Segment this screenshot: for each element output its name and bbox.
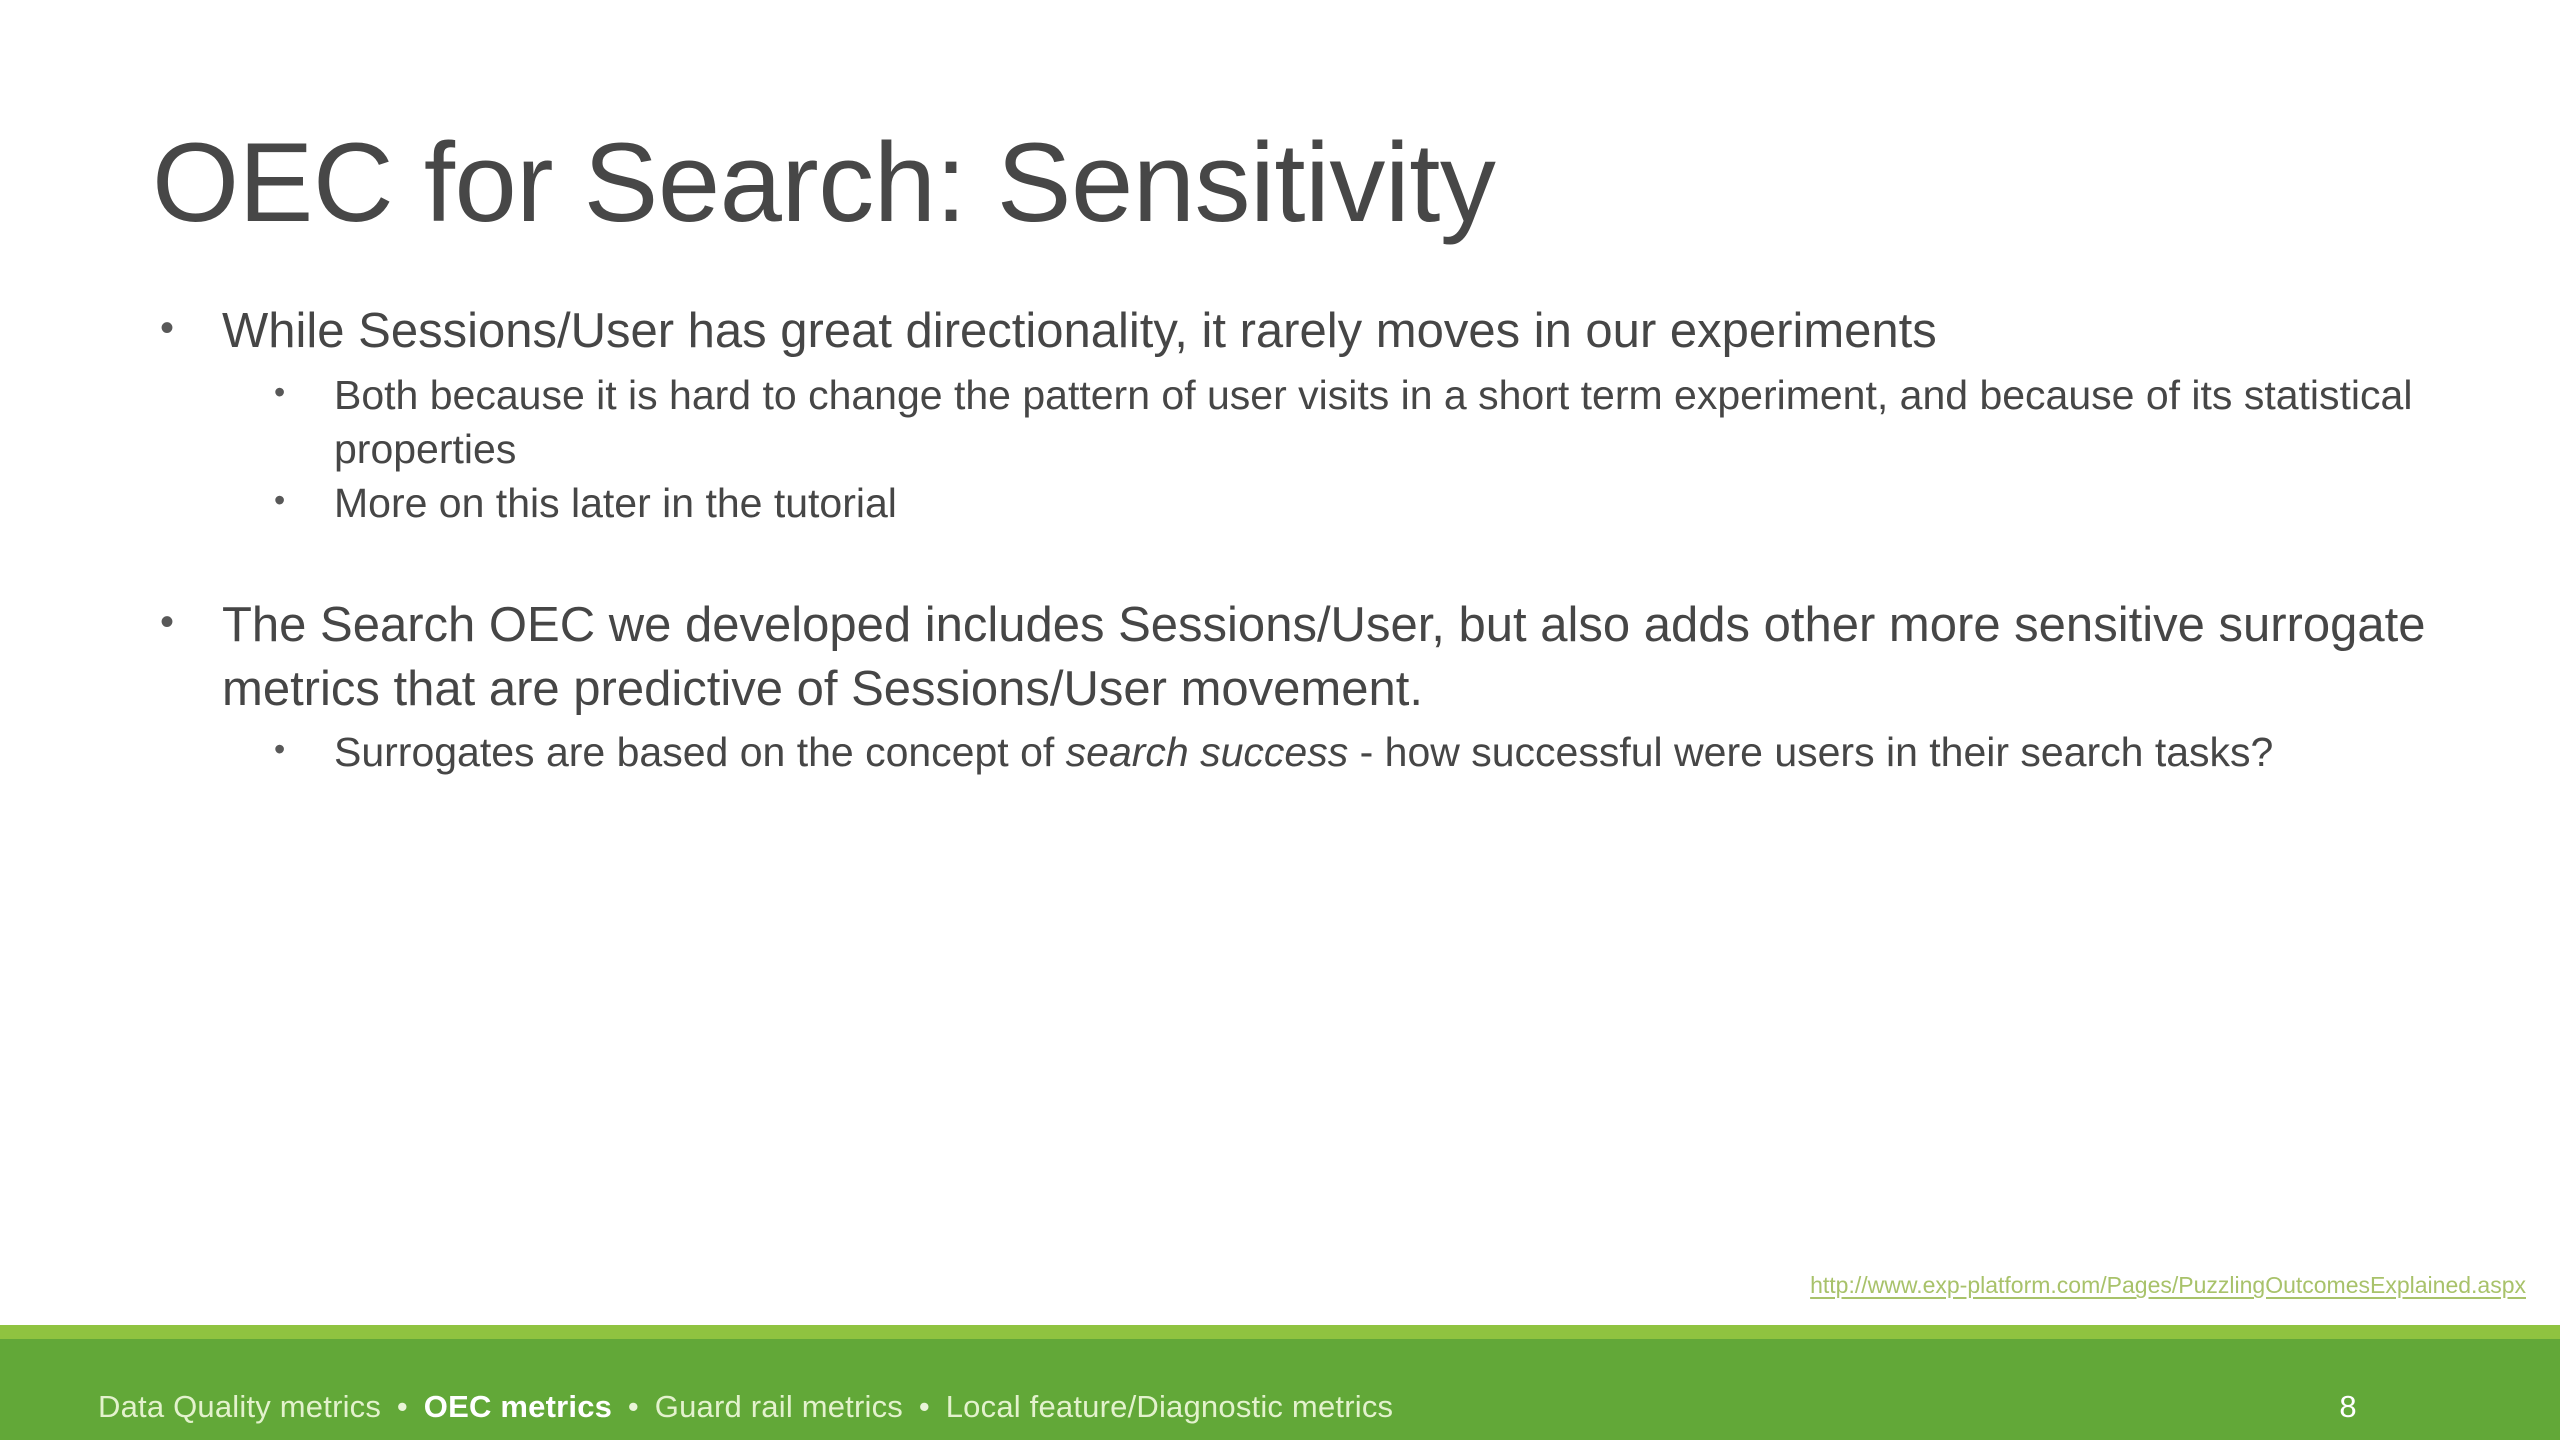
bullet-text: While Sessions/User has great directiona… <box>222 300 2450 364</box>
bullet-text: The Search OEC we developed includes Ses… <box>222 594 2450 721</box>
presentation-slide: OEC for Search: Sensitivity While Sessio… <box>0 0 2560 1440</box>
bullet-list-group-1: While Sessions/User has great directiona… <box>150 300 2450 530</box>
bullet-item-level2: Surrogates are based on the concept of s… <box>256 725 2450 779</box>
footer-separator-icon: • <box>912 1389 937 1424</box>
footer-breadcrumb: Data Quality metrics • OEC metrics • Gua… <box>98 1389 1393 1425</box>
footer-item-data-quality-metrics[interactable]: Data Quality metrics <box>98 1389 381 1424</box>
sub-bullet-list: Both because it is hard to change the pa… <box>256 368 2450 530</box>
bullet-item-level1: While Sessions/User has great directiona… <box>150 300 2450 530</box>
sub-bullet-list: Surrogates are based on the concept of s… <box>256 725 2450 779</box>
page-title: OEC for Search: Sensitivity <box>152 117 2432 249</box>
sub-bullet-text: More on this later in the tutorial <box>334 476 2450 530</box>
footer-item-local-feature-diagnostic-metrics[interactable]: Local feature/Diagnostic metrics <box>946 1389 1393 1424</box>
sub-bullet-text: Surrogates are based on the concept of s… <box>334 725 2450 779</box>
sub-bullet-text-suffix: - how successful were users in their sea… <box>1348 729 2273 775</box>
bullet-list-group-2: The Search OEC we developed includes Ses… <box>150 594 2450 779</box>
footer-item-guard-rail-metrics[interactable]: Guard rail metrics <box>655 1389 903 1424</box>
footer-separator-icon: • <box>390 1389 415 1424</box>
sub-bullet-text-emphasis: search success <box>1066 729 1349 775</box>
footer-separator-icon: • <box>621 1389 646 1424</box>
bullet-item-level2: More on this later in the tutorial <box>256 476 2450 530</box>
slide-body: While Sessions/User has great directiona… <box>150 300 2450 782</box>
page-number: 8 <box>2318 1389 2378 1425</box>
sub-bullet-text-prefix: Surrogates are based on the concept of <box>334 729 1066 775</box>
sub-bullet-text: Both because it is hard to change the pa… <box>334 368 2450 476</box>
bullet-group-spacer <box>150 532 2450 594</box>
source-url-link[interactable]: http://www.exp-platform.com/Pages/Puzzli… <box>1810 1272 2526 1299</box>
bullet-item-level2: Both because it is hard to change the pa… <box>256 368 2450 476</box>
footer-accent-strip <box>0 1325 2560 1339</box>
footer-item-oec-metrics[interactable]: OEC metrics <box>424 1389 612 1424</box>
bullet-item-level1: The Search OEC we developed includes Ses… <box>150 594 2450 779</box>
